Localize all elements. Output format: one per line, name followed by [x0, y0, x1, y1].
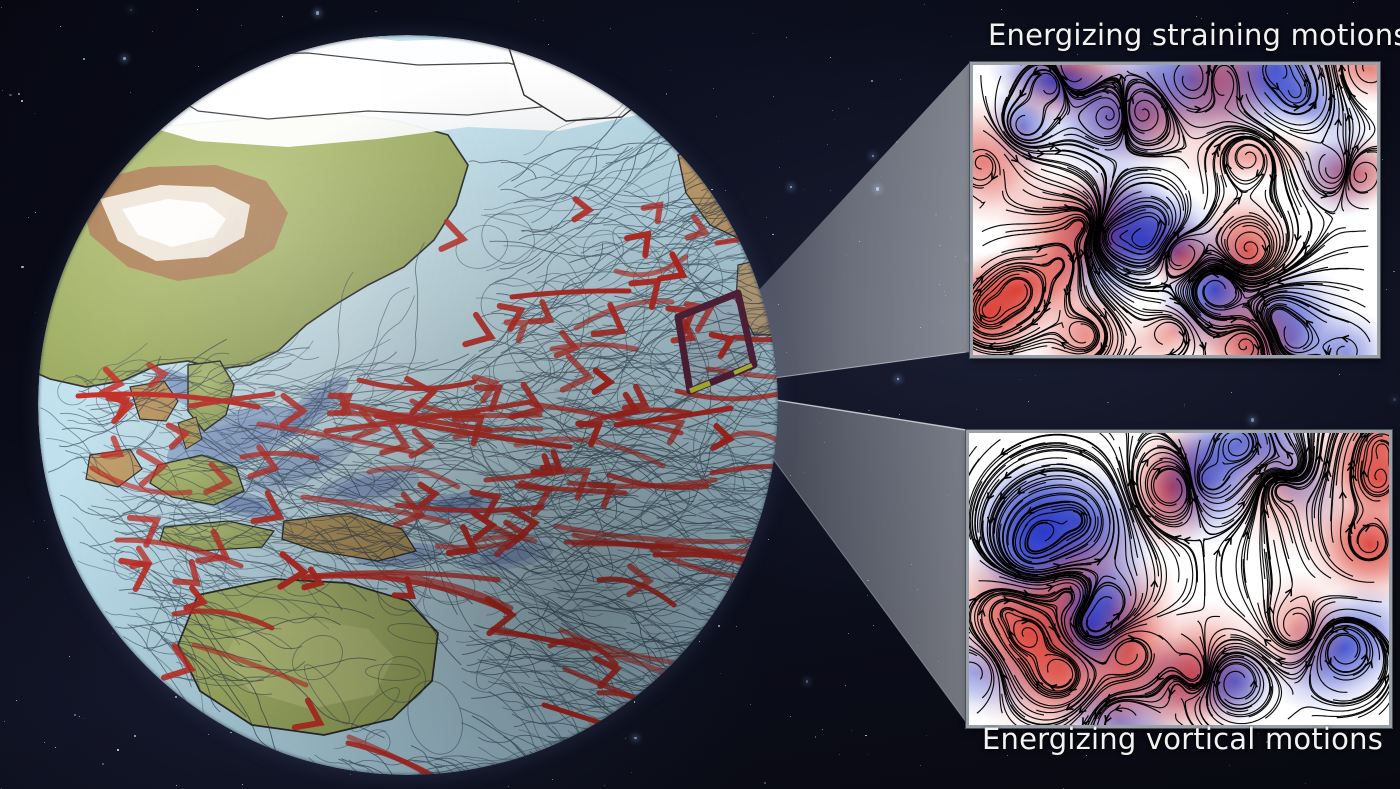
globe-container	[38, 35, 778, 775]
figure-canvas: Energizing straining motions Energizing …	[0, 0, 1400, 789]
earth-globe[interactable]	[38, 35, 778, 775]
vorticity-field-plot	[969, 433, 1389, 725]
inset-vortical-motions[interactable]	[966, 430, 1392, 728]
strain-field-plot	[973, 65, 1377, 355]
caption-vortical-motions: Energizing vortical motions	[982, 722, 1383, 756]
caption-straining-motions: Energizing straining motions	[988, 18, 1400, 52]
inset-straining-motions[interactable]	[970, 62, 1380, 358]
globe-surface	[38, 35, 778, 775]
